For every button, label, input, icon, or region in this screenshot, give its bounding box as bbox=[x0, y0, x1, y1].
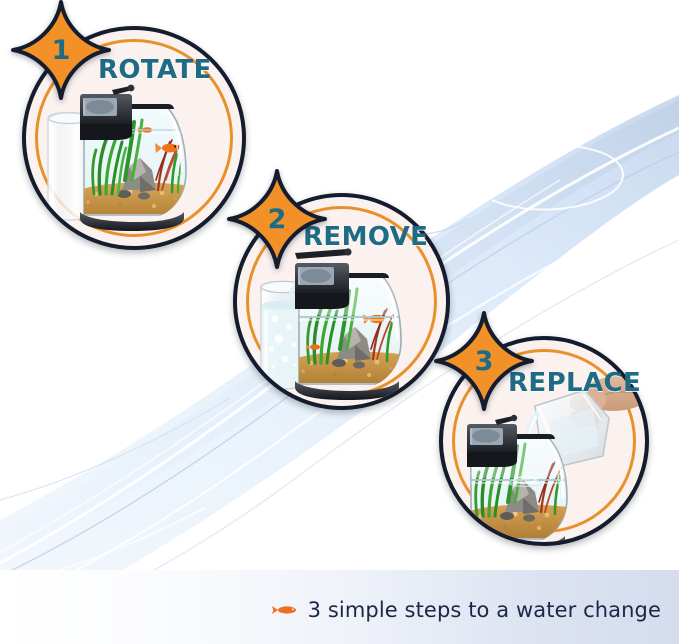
four-point-star-icon bbox=[9, 0, 113, 102]
step-card-1[interactable]: ROTATE 1 bbox=[22, 26, 246, 250]
step-card-2[interactable]: REMOVE 2 bbox=[233, 193, 450, 410]
step-1-badge: 1 bbox=[9, 0, 113, 102]
step-card-3[interactable]: REPLACE 3 bbox=[439, 336, 649, 546]
four-point-star-icon bbox=[225, 167, 329, 271]
four-point-star-icon bbox=[432, 309, 536, 413]
bottom-caption-bar: 3 simple steps to a water change bbox=[0, 570, 679, 644]
fish-icon bbox=[272, 603, 298, 617]
step-2-badge: 2 bbox=[225, 167, 329, 271]
caption-row: 3 simple steps to a water change bbox=[0, 598, 661, 622]
caption-text: 3 simple steps to a water change bbox=[308, 598, 661, 622]
step-1-title: ROTATE bbox=[98, 55, 212, 85]
black-power-filter bbox=[467, 415, 517, 467]
infographic-canvas: ROTATE 1 bbox=[0, 0, 679, 644]
step-3-badge: 3 bbox=[432, 309, 536, 413]
